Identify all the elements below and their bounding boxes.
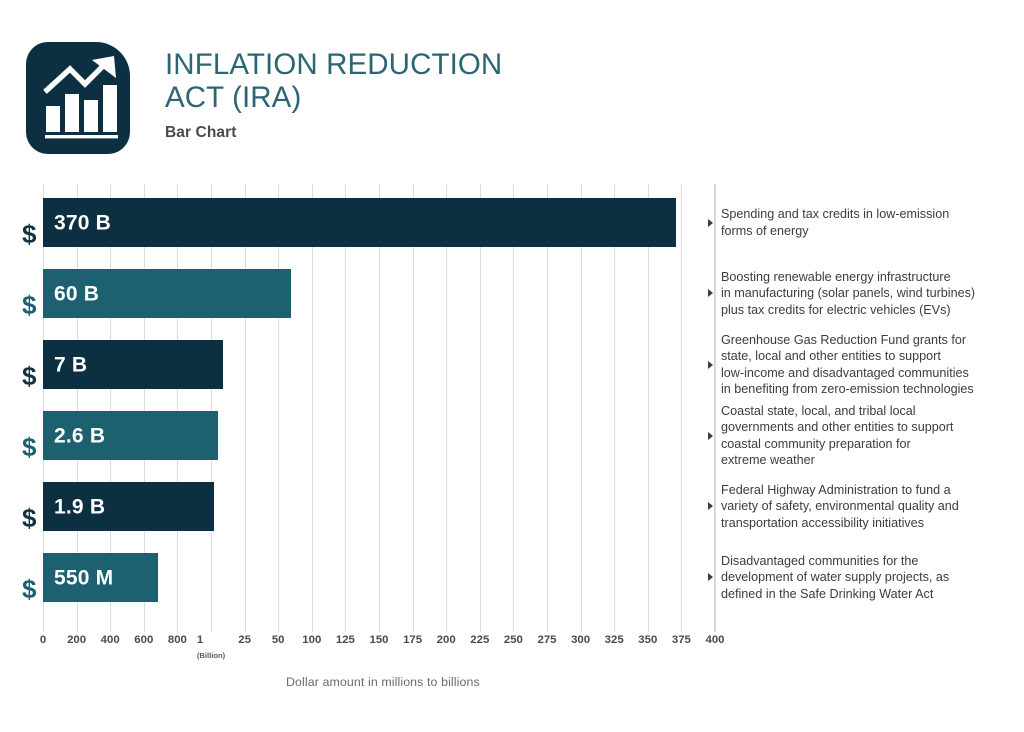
tick-value: 800	[168, 634, 187, 646]
x-axis-tick: 350	[638, 634, 657, 647]
x-axis-tick-labels: 02004006008001(Billion)25501001251501752…	[0, 634, 1024, 664]
x-axis-tick: 275	[537, 634, 556, 647]
dollar-sign-icon: $	[22, 363, 36, 389]
tick-value: 350	[638, 634, 657, 646]
tick-value: 275	[537, 634, 556, 646]
header: INFLATION REDUCTION ACT (IRA) Bar Chart	[0, 0, 1024, 175]
tick-value: 50	[272, 634, 285, 646]
tick-value: 375	[672, 634, 691, 646]
x-axis-tick: 50	[272, 634, 285, 647]
bar-value-label: 7 B	[54, 354, 87, 375]
x-axis-tick: 250	[504, 634, 523, 647]
dollar-sign-icon: $	[22, 505, 36, 531]
x-axis-tick: 200	[67, 634, 86, 647]
bar-description-text: Greenhouse Gas Reduction Fund grants for…	[721, 332, 1018, 398]
bar-description-text: Federal Highway Administration to fund a…	[721, 482, 1018, 532]
tick-value: 175	[403, 634, 422, 646]
dollar-sign-icon: $	[22, 576, 36, 602]
tick-value: 400	[705, 634, 724, 646]
tick-value: 150	[369, 634, 388, 646]
bar-description-text: Disadvantaged communities for the develo…	[721, 553, 1018, 603]
bar-value-label: 550 M	[54, 567, 113, 588]
bar-description-text: Coastal state, local, and tribal local g…	[721, 403, 1018, 469]
bar[interactable]: 370 B	[43, 198, 676, 247]
x-axis-tick: 375	[672, 634, 691, 647]
tick-value: 300	[571, 634, 590, 646]
tick-value: 25	[238, 634, 251, 646]
triangle-right-icon	[708, 432, 713, 440]
x-axis-tick: 300	[571, 634, 590, 647]
tick-value: 0	[40, 634, 46, 646]
tick-value: 325	[605, 634, 624, 646]
dollar-sign-icon: $	[22, 221, 36, 247]
bar-description-row: Spending and tax credits in low-emission…	[708, 206, 1018, 239]
x-axis-tick: 150	[369, 634, 388, 647]
bar[interactable]: 1.9 B	[43, 482, 214, 531]
bar-description-row: Disadvantaged communities for the develo…	[708, 553, 1018, 603]
triangle-right-icon	[708, 289, 713, 297]
triangle-right-icon	[708, 219, 713, 227]
bar-value-label: 370 B	[54, 212, 111, 233]
dollar-sign-icon: $	[22, 292, 36, 318]
bar-description-text: Boosting renewable energy infrastructure…	[721, 269, 1018, 319]
bar-value-label: 2.6 B	[54, 425, 105, 446]
tick-value: 100	[302, 634, 321, 646]
bar[interactable]: 550 M	[43, 553, 158, 602]
x-axis-tick: 800	[168, 634, 187, 647]
bar-description-row: Greenhouse Gas Reduction Fund grants for…	[708, 332, 1018, 398]
tick-value: 225	[470, 634, 489, 646]
bar[interactable]: 2.6 B	[43, 411, 218, 460]
tick-value: 1	[197, 634, 203, 646]
dollar-sign-icon: $	[22, 434, 36, 460]
bar-description-row: Federal Highway Administration to fund a…	[708, 482, 1018, 532]
x-axis-tick: 1(Billion)	[197, 634, 225, 662]
chart-subtitle: Bar Chart	[165, 124, 725, 142]
page-title: INFLATION REDUCTION ACT (IRA)	[165, 48, 725, 114]
bar[interactable]: 60 B	[43, 269, 291, 318]
logo-badge	[26, 42, 130, 154]
title-block: INFLATION REDUCTION ACT (IRA) Bar Chart	[165, 48, 725, 142]
tick-unit-note: (Billion)	[197, 649, 225, 662]
tick-value: 200	[437, 634, 456, 646]
x-axis-tick: 0	[40, 634, 46, 647]
tick-value: 600	[134, 634, 153, 646]
triangle-right-icon	[708, 573, 713, 581]
bar-value-label: 60 B	[54, 283, 99, 304]
x-axis-tick: 100	[302, 634, 321, 647]
x-axis-caption: Dollar amount in millions to billions	[286, 675, 480, 689]
x-axis-tick: 325	[605, 634, 624, 647]
x-axis-tick: 225	[470, 634, 489, 647]
x-axis-tick: 175	[403, 634, 422, 647]
tick-value: 250	[504, 634, 523, 646]
bar-description-text: Spending and tax credits in low-emission…	[721, 206, 1018, 239]
triangle-right-icon	[708, 502, 713, 510]
x-axis-tick: 600	[134, 634, 153, 647]
bar-value-label: 1.9 B	[54, 496, 105, 517]
bar[interactable]: 7 B	[43, 340, 223, 389]
bar-chart-growth-arrow-icon	[26, 42, 130, 154]
tick-value: 400	[101, 634, 120, 646]
x-axis-tick: 400	[705, 634, 724, 647]
x-axis-tick: 400	[101, 634, 120, 647]
triangle-right-icon	[708, 361, 713, 369]
bar-description-row: Boosting renewable energy infrastructure…	[708, 269, 1018, 319]
tick-value: 125	[336, 634, 355, 646]
bar-description-row: Coastal state, local, and tribal local g…	[708, 403, 1018, 469]
tick-value: 200	[67, 634, 86, 646]
x-axis-tick: 200	[437, 634, 456, 647]
x-axis-tick: 125	[336, 634, 355, 647]
x-axis-tick: 25	[238, 634, 251, 647]
